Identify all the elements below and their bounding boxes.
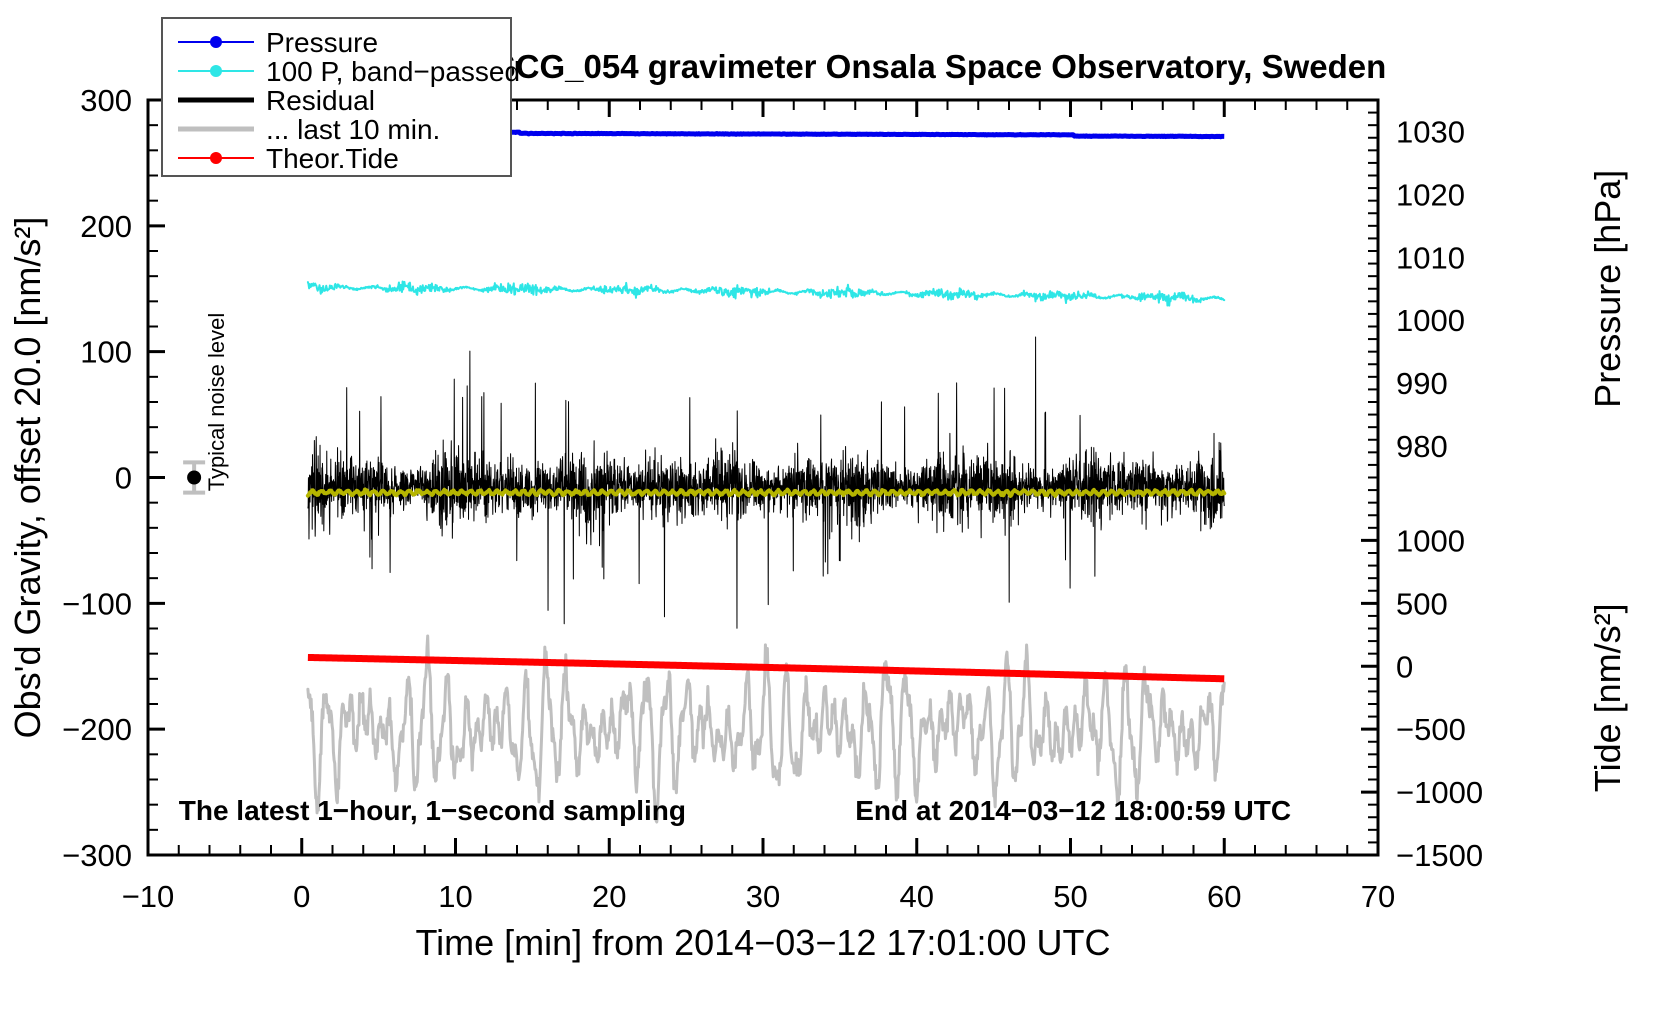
x-tick-label-4: 30 [746,879,780,914]
x-tick-label-8: 70 [1361,879,1395,914]
tide-tick-label-5: −1500 [1396,838,1483,873]
y-axis-title: Obs'd Gravity, offset 20.0 [nm/s²] [7,217,48,739]
pressure-tick-label-1: 1020 [1396,177,1465,212]
x-tick-label-0: −10 [122,879,175,914]
y-tick-label-1: 200 [80,209,132,244]
footer-right-label: End at 2014−03−12 18:00:59 UTC [855,795,1291,826]
pressure-tick-label-0: 1030 [1396,114,1465,149]
x-tick-label-3: 20 [592,879,626,914]
legend-label-1: 100 P, band−passed [266,56,520,87]
y-tick-label-6: −300 [62,838,132,873]
tide-tick-label-1: 500 [1396,586,1448,621]
y-tick-label-0: 300 [80,83,132,118]
tide-tick-label-4: −1000 [1396,775,1483,810]
x-tick-label-7: 60 [1207,879,1241,914]
legend-label-4: Theor.Tide [266,143,399,174]
pressure-tick-label-4: 990 [1396,366,1448,401]
tide-tick-label-2: 0 [1396,649,1413,684]
y-tick-label-2: 100 [80,335,132,370]
chart-canvas: −10010203040506070Time [min] from 2014−0… [0,0,1660,1020]
tide-tick-label-3: −500 [1396,712,1466,747]
legend-label-0: Pressure [266,27,378,58]
noise-level-dot [187,471,201,485]
legend-marker-4 [210,152,222,164]
x-tick-label-1: 0 [293,879,310,914]
chart-title: SCG_054 gravimeter Onsala Space Observat… [494,48,1387,85]
footer-left-label: The latest 1−hour, 1−second sampling [179,795,686,826]
x-axis-title: Time [min] from 2014−03−12 17:01:00 UTC [415,922,1110,963]
legend-marker-0 [210,36,222,48]
pressure-tick-label-2: 1010 [1396,240,1465,275]
x-tick-label-5: 40 [900,879,934,914]
pressure-axis-title: Pressure [hPa] [1587,170,1628,408]
legend-label-2: Residual [266,85,375,116]
legend-marker-1 [210,65,222,77]
legend-label-3: ... last 10 min. [266,114,440,145]
y-tick-label-5: −200 [62,712,132,747]
tide-tick-label-0: 1000 [1396,523,1465,558]
gravimeter-timeseries-plot: −10010203040506070Time [min] from 2014−0… [0,0,1660,1020]
noise-level-label: Typical noise level [204,313,229,492]
pressure-tick-label-3: 1000 [1396,303,1465,338]
y-tick-label-4: −100 [62,586,132,621]
tide-axis-title: Tide [nm/s²] [1587,603,1628,792]
x-tick-label-6: 50 [1053,879,1087,914]
x-tick-label-2: 10 [438,879,472,914]
y-tick-label-3: 0 [115,461,132,496]
pressure-tick-label-5: 980 [1396,429,1448,464]
